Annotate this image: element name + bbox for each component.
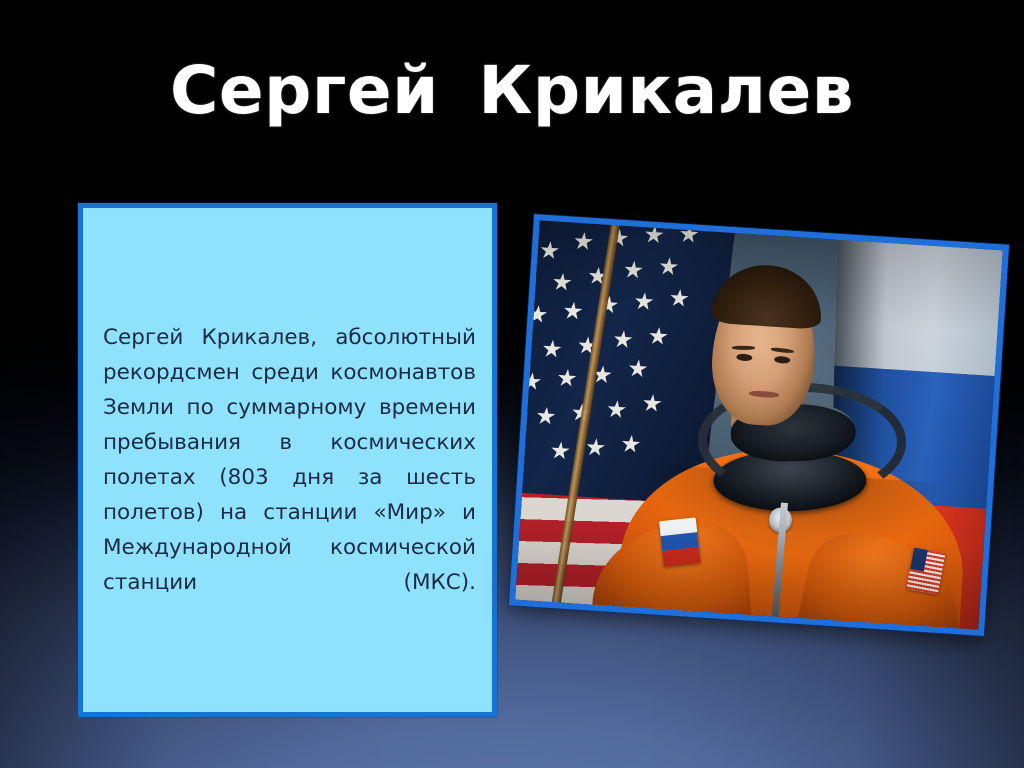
text-panel-body: Сергей Крикалев, абсолютный рекордсмен с… xyxy=(103,320,476,635)
russian-flag-patch-icon xyxy=(658,517,700,566)
slide-title: Сергей Крикалев xyxy=(0,56,1024,125)
astronaut-photo xyxy=(515,220,1003,629)
presentation-slide: Сергей Крикалев Сергей Крикалев, абсолют… xyxy=(0,0,1024,768)
cosmonaut-left-eyebrow xyxy=(732,345,755,349)
astronaut-photo-frame xyxy=(509,214,1009,636)
cosmonaut-hair xyxy=(711,262,824,330)
cosmonaut-figure xyxy=(515,220,1003,629)
text-panel: Сергей Крикалев, абсолютный рекордсмен с… xyxy=(78,203,497,717)
text-panel-paragraph: Сергей Крикалев, абсолютный рекордсмен с… xyxy=(103,320,476,635)
